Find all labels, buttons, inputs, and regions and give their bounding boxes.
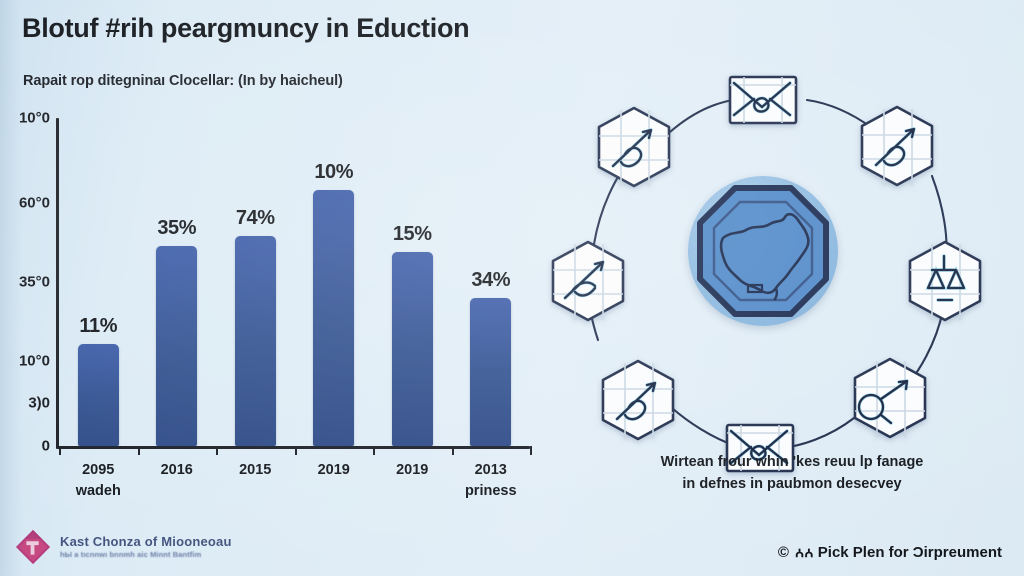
central-hub <box>688 176 838 326</box>
hex-node-bottom-right[interactable] <box>847 355 933 441</box>
x-axis-label-year: 2019 <box>396 460 428 481</box>
diamond-logo-icon <box>14 528 52 566</box>
page-subtitle: Rapait rop ditegninaı Clocellar: (In by … <box>23 73 493 89</box>
bar-value-label: 35% <box>157 217 196 240</box>
envelope-node-top[interactable] <box>720 57 806 143</box>
hex-node-right[interactable] <box>902 238 988 324</box>
y-axis-tick-labels: 10°060°035°010°03)00 <box>0 100 50 449</box>
footer-credit: © ꭅꭅ Pick Plen for Ɔirpreument <box>778 542 1002 562</box>
bar-value-label: 11% <box>79 315 117 338</box>
bar[interactable] <box>78 344 119 446</box>
caption-line-1: Wirtean frour whin 'kes reuu lp fanage <box>560 452 1024 474</box>
x-axis-tick <box>452 446 454 455</box>
x-axis-tick <box>295 446 297 455</box>
x-axis-tick <box>216 446 218 455</box>
hexagon-shape <box>595 357 681 443</box>
x-axis-tick <box>373 446 375 455</box>
hex-node-top-left[interactable] <box>591 104 677 190</box>
x-axis-label-year: 2095 <box>76 460 121 481</box>
hexagon-shape <box>545 238 631 324</box>
envelope-shape <box>720 57 806 143</box>
x-axis-label-year: 2016 <box>161 460 193 481</box>
footer-logo-text: Kast Chonza of Miooneoau hЫ a tıcnnwı bn… <box>60 534 232 560</box>
bar-value-label: 10% <box>314 161 353 184</box>
footer-logo-subtitle: hЫ a tıcnnwı bnnmh aic Minnt Bantfim <box>60 550 232 559</box>
hex-node-top-right[interactable] <box>854 103 940 189</box>
page-title: Blotuf #rih peargmuncy in Eduction <box>22 14 582 44</box>
y-axis-tick-label: 60°0 <box>19 195 50 212</box>
footer-credit-text: ꭅꭅ Pick Plen for Ɔirpreument <box>795 542 1002 562</box>
y-axis-tick-label: 10°0 <box>19 110 50 127</box>
x-axis-label-year: 2013 <box>465 460 517 481</box>
y-axis-tick-label: 10°0 <box>19 352 50 369</box>
bar[interactable] <box>313 190 354 446</box>
hexagon-shape <box>591 104 677 190</box>
x-axis-label-year: 2015 <box>239 460 271 481</box>
x-axis-label: 2015 <box>239 460 271 481</box>
x-axis-label: 2016 <box>161 460 193 481</box>
y-axis-tick-label: 35°0 <box>19 274 50 291</box>
infographic-page: Blotuf #rih peargmuncy in Eduction Rapai… <box>0 0 1024 576</box>
bar[interactable] <box>470 298 511 446</box>
bar-chart: 10°060°035°010°03)00 11%35%74%10%15%34% … <box>0 100 560 520</box>
x-axis-tick <box>530 446 532 455</box>
hexagon-shape <box>902 238 988 324</box>
bars-container: 11%35%74%10%15%34% <box>59 118 530 446</box>
y-axis-tick-label: 0 <box>42 438 50 455</box>
x-axis-label-year: 2019 <box>318 460 350 481</box>
footer-logo: Kast Chonza of Miooneoau hЫ a tıcnnwı bn… <box>14 528 232 566</box>
caption-line-2: in defnes in paubmon desecvey <box>560 474 1024 496</box>
x-axis-label-sub: priness <box>465 481 517 502</box>
bar-value-label: 74% <box>236 207 275 230</box>
bar[interactable] <box>156 246 197 446</box>
footer-logo-title: Kast Chonza of Miooneoau <box>60 534 232 550</box>
hexagon-shape <box>854 103 940 189</box>
x-axis-tick <box>59 446 61 455</box>
x-axis-tick <box>138 446 140 455</box>
bar[interactable] <box>392 252 433 446</box>
x-axis-label: 2013priness <box>465 460 517 502</box>
bar[interactable] <box>235 236 276 446</box>
hex-node-bottom-left[interactable] <box>595 357 681 443</box>
diagram-caption: Wirtean frour whin 'kes reuu lp fanage i… <box>560 452 1024 496</box>
x-axis-label-sub: wadeh <box>76 481 121 502</box>
network-diagram <box>560 48 1024 448</box>
hexagon-shape <box>847 355 933 441</box>
y-axis-tick-label: 3)0 <box>28 395 50 412</box>
hex-node-left[interactable] <box>545 238 631 324</box>
copyright-icon: © <box>778 544 789 561</box>
bar-value-label: 34% <box>471 269 510 292</box>
x-axis-line <box>56 446 530 449</box>
x-axis-label: 2019 <box>318 460 350 481</box>
bar-value-label: 15% <box>393 223 432 246</box>
x-axis-label: 2095wadeh <box>76 460 121 502</box>
map-emblem-icon <box>688 176 838 326</box>
x-axis-label: 2019 <box>396 460 428 481</box>
